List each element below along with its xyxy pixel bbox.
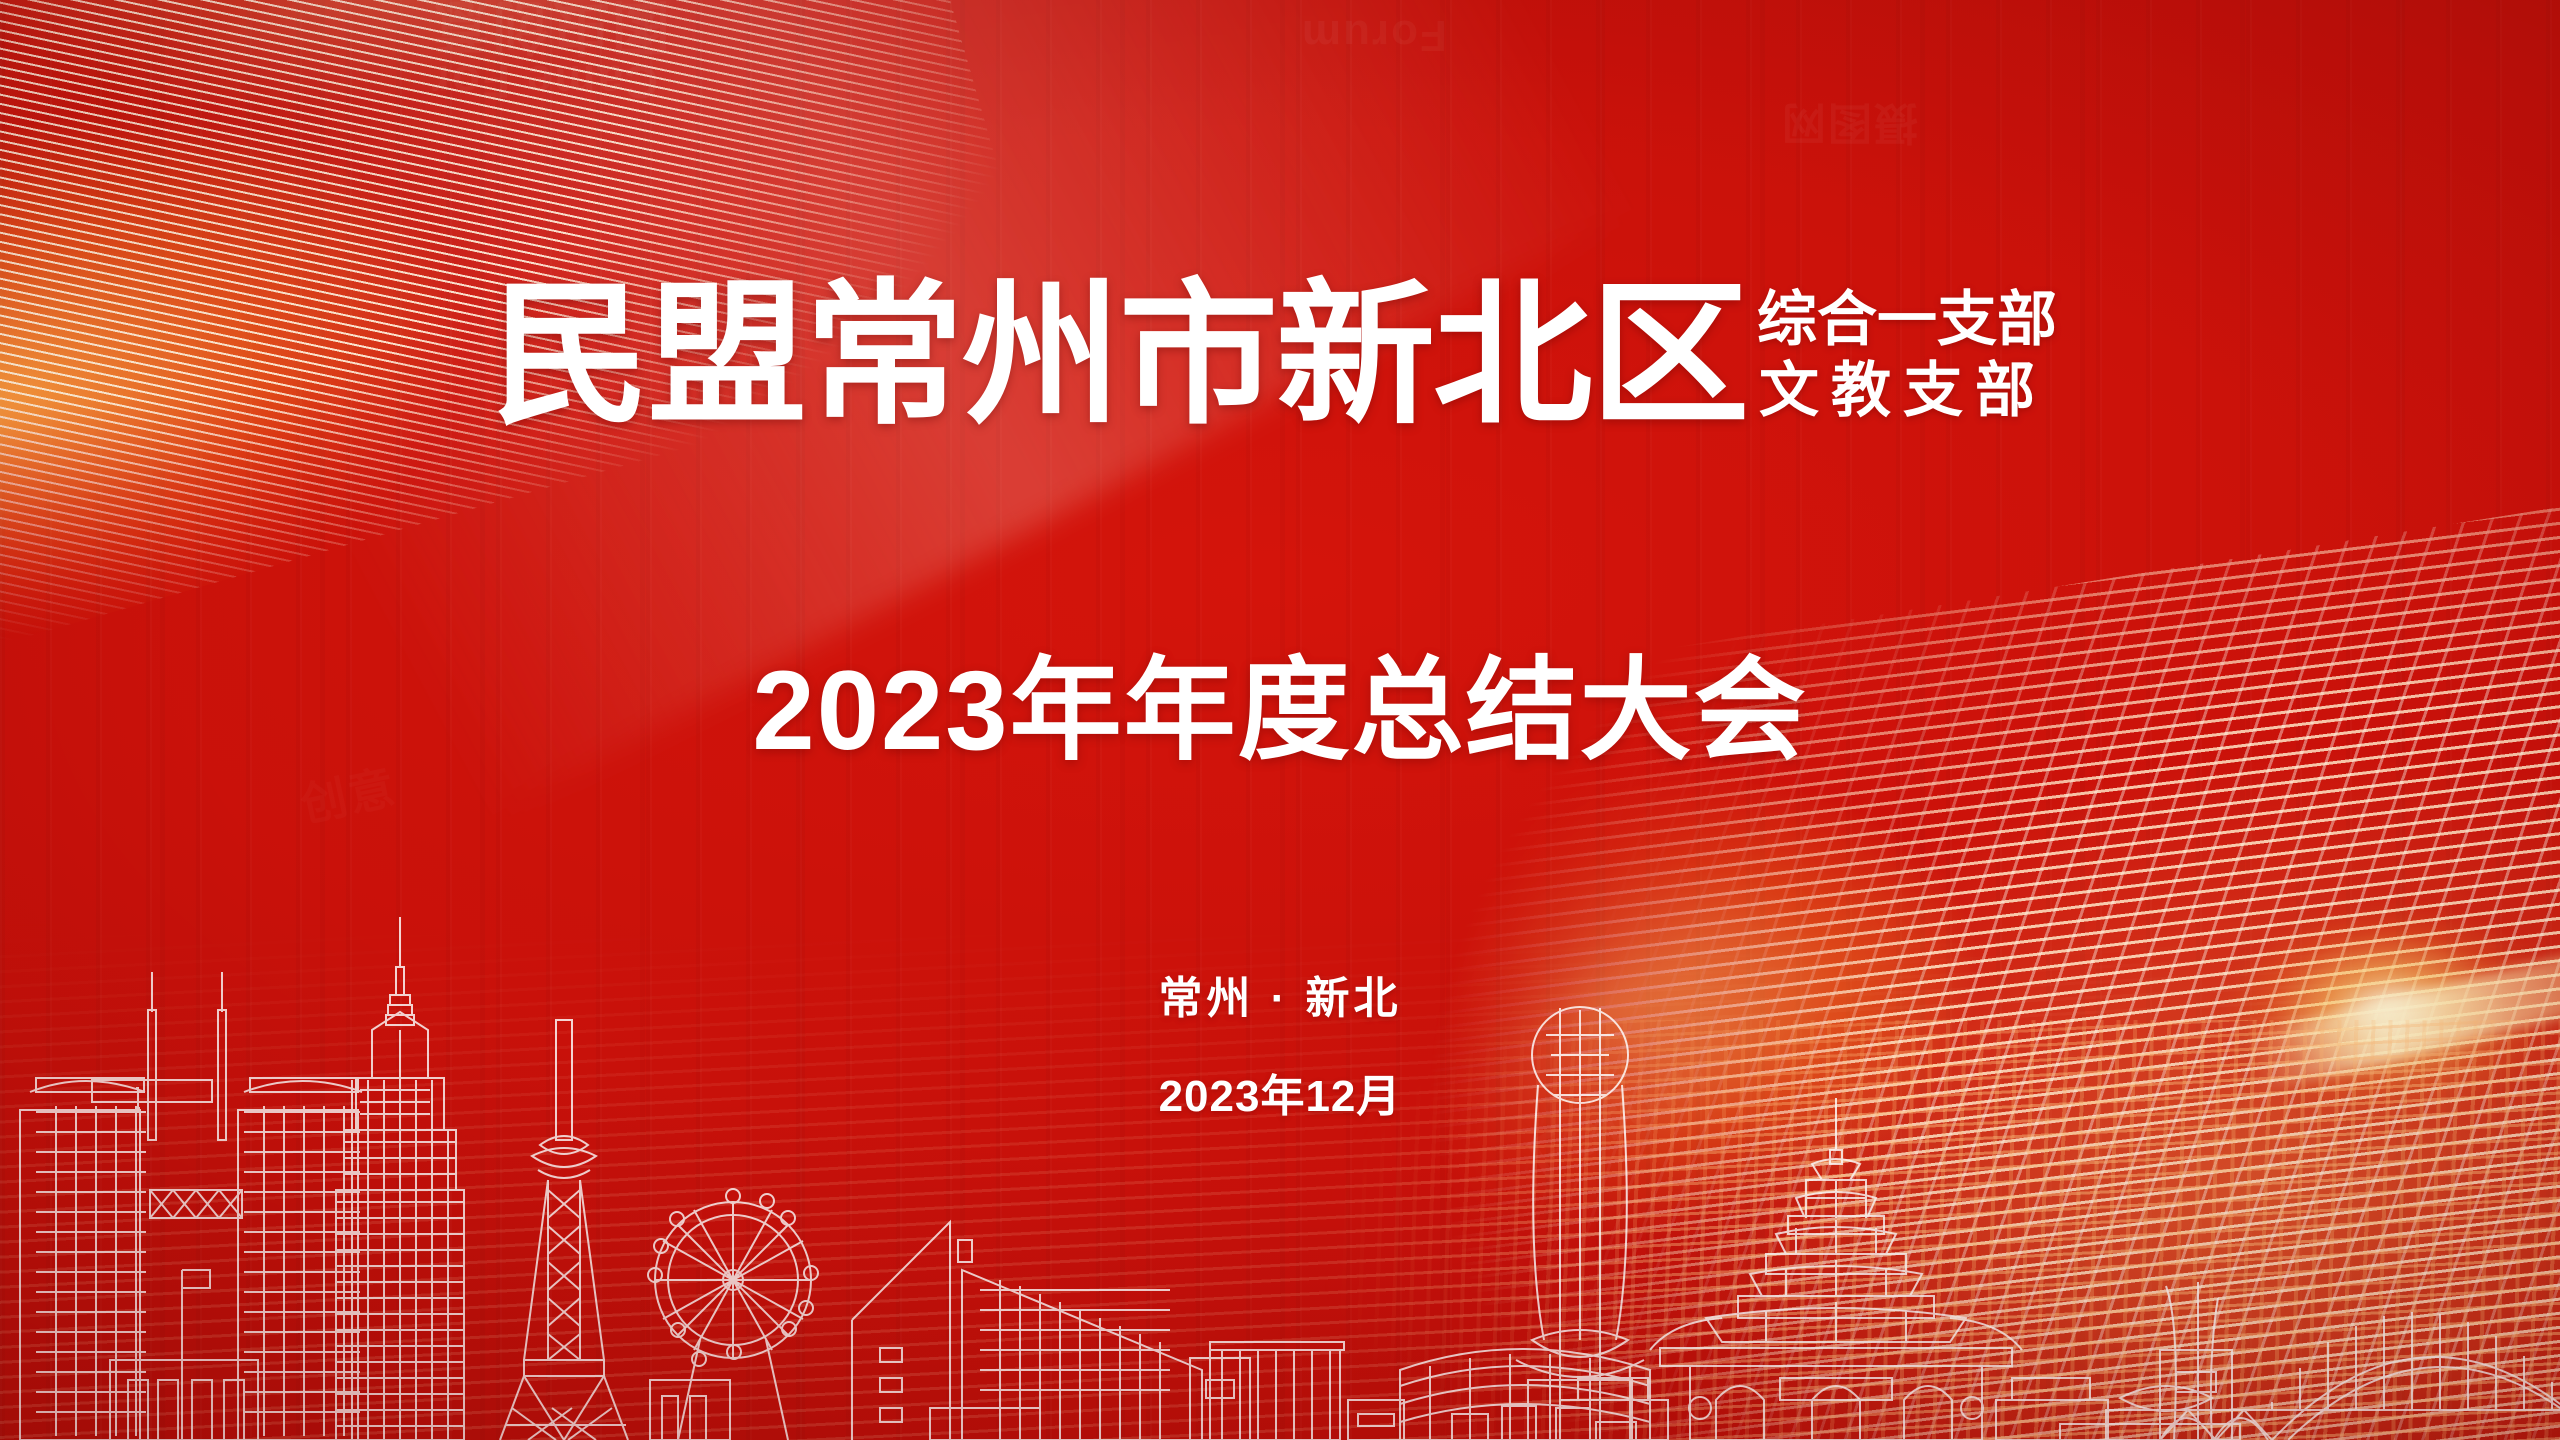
poster-content: 民盟常州市新北区 综合一支部 文教支部 2023年年度总结大会 常州 · 新北 … — [0, 0, 2560, 1440]
branch-names: 综合一支部 文教支部 — [1757, 288, 2057, 424]
branch-line-1: 综合一支部 — [1757, 288, 2057, 353]
title-row: 民盟常州市新北区 综合一支部 文教支部 — [0, 278, 2560, 434]
poster-canvas: 图虫创意 Came For Forum 摄图网 Forum 创意 — [0, 0, 2560, 1440]
event-meta: 常州 · 新北 2023年12月 — [0, 962, 2560, 1124]
organization-title: 民盟常州市新北区 — [491, 278, 1748, 434]
branch-line-2: 文教支部 — [1757, 359, 2057, 424]
event-title: 2023年年度总结大会 — [0, 620, 2560, 782]
event-location: 常州 · 新北 — [0, 962, 2560, 1026]
event-date: 2023年12月 — [0, 1060, 2560, 1124]
